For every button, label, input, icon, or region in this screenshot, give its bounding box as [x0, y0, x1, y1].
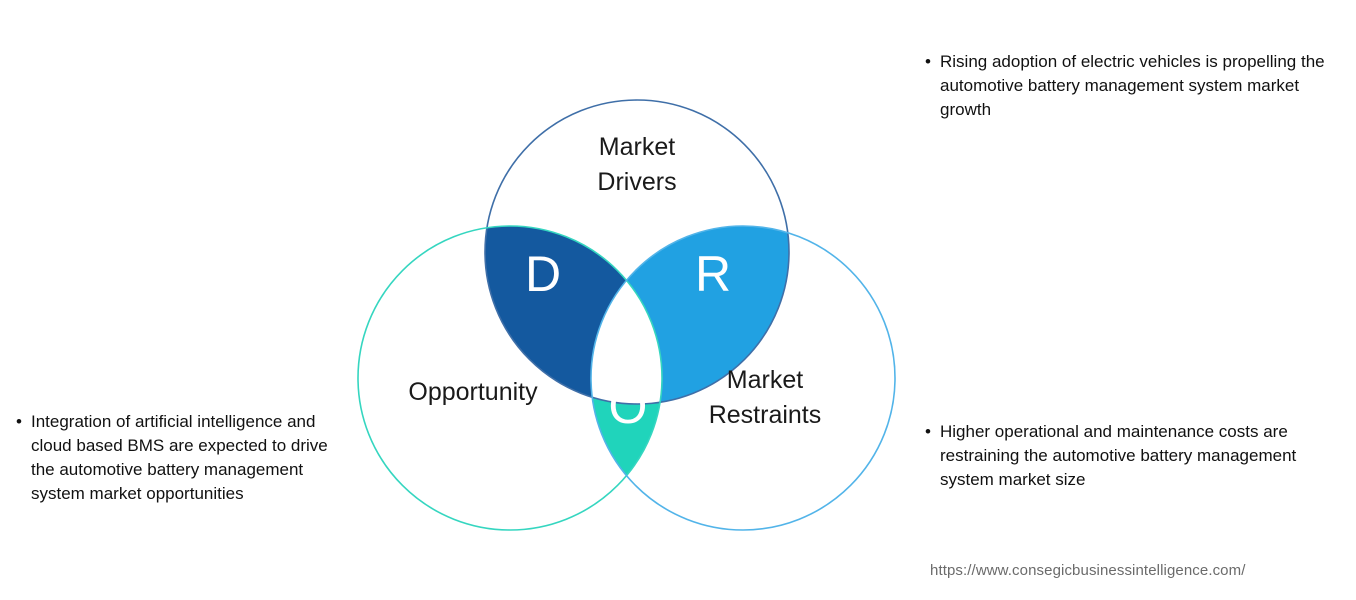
- venn-label-restraints-line1: Market: [727, 366, 803, 394]
- venn-region-letter-o: O: [609, 378, 648, 434]
- callout-market-drivers-text: Rising adoption of electric vehicles is …: [940, 50, 1340, 122]
- venn-label-drivers-line1: Market: [599, 133, 675, 161]
- venn-diagram-svg: D R O Market Drivers Opportunity Market …: [340, 40, 910, 550]
- callout-opportunity-text: Integration of artificial intelligence a…: [31, 410, 346, 507]
- venn-label-opportunity-line1: Opportunity: [408, 378, 538, 406]
- venn-region-letter-r: R: [695, 246, 731, 302]
- bullet-icon: •: [925, 420, 940, 444]
- venn-label-drivers-line2: Drivers: [597, 168, 676, 196]
- callout-market-restraints-text: Higher operational and maintenance costs…: [940, 420, 1330, 492]
- callout-market-restraints: • Higher operational and maintenance cos…: [925, 420, 1330, 492]
- callout-market-drivers: • Rising adoption of electric vehicles i…: [925, 50, 1340, 122]
- callout-opportunity: • Integration of artificial intelligence…: [16, 410, 346, 507]
- venn-diagram: D R O Market Drivers Opportunity Market …: [340, 40, 910, 550]
- source-url[interactable]: https://www.consegicbusinessintelligence…: [930, 562, 1246, 579]
- bullet-icon: •: [925, 50, 940, 74]
- venn-label-restraints-line2: Restraints: [709, 401, 822, 429]
- venn-region-letter-d: D: [525, 246, 561, 302]
- bullet-icon: •: [16, 410, 31, 434]
